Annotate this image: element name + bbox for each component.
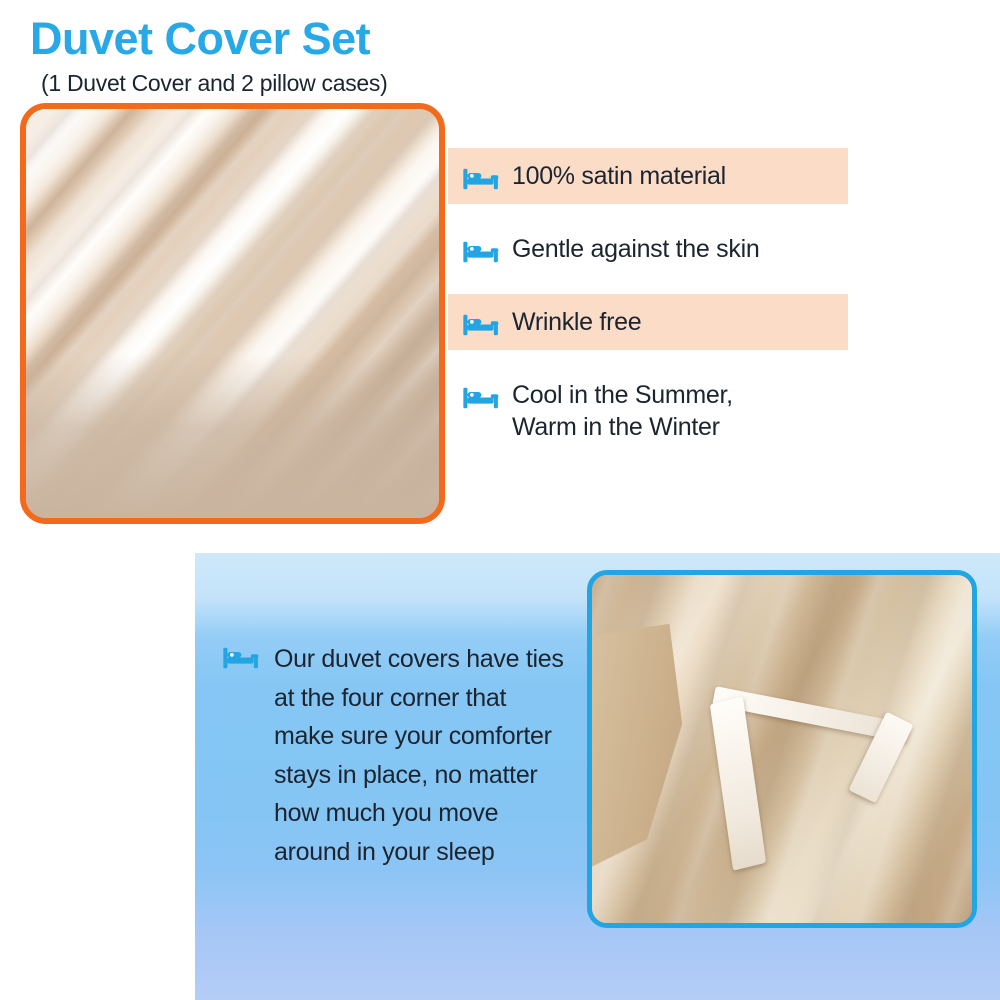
feature-label: 100% satin material (512, 160, 726, 192)
page-subtitle: (1 Duvet Cover and 2 pillow cases) (41, 70, 387, 97)
fabric-photo (20, 103, 445, 524)
feature-label: Gentle against the skin (512, 233, 759, 265)
bed-icon (462, 239, 500, 265)
feature-label: Cool in the Summer, Warm in the Winter (512, 379, 733, 443)
feature-list: 100% satin material Gentle against the s… (448, 148, 848, 455)
tie-description-block: Our duvet covers have ties at the four c… (222, 640, 572, 871)
feature-item-2: Gentle against the skin (448, 221, 848, 277)
feature-item-1: 100% satin material (448, 148, 848, 204)
bed-icon (462, 385, 500, 411)
bed-icon (462, 312, 500, 338)
tie-photo (587, 570, 977, 928)
infographic-canvas: Duvet Cover Set (1 Duvet Cover and 2 pil… (0, 0, 1000, 1000)
bed-icon (222, 645, 260, 671)
feature-item-4: Cool in the Summer, Warm in the Winter (448, 367, 848, 455)
bed-icon (462, 166, 500, 192)
tie-description-line: Our duvet covers have ties at the four c… (222, 640, 572, 871)
feature-item-3: Wrinkle free (448, 294, 848, 350)
page-title: Duvet Cover Set (30, 16, 370, 61)
fabric-lower-shade (26, 354, 439, 518)
tie-description-text: Our duvet covers have ties at the four c… (274, 640, 572, 871)
feature-label: Wrinkle free (512, 306, 641, 338)
